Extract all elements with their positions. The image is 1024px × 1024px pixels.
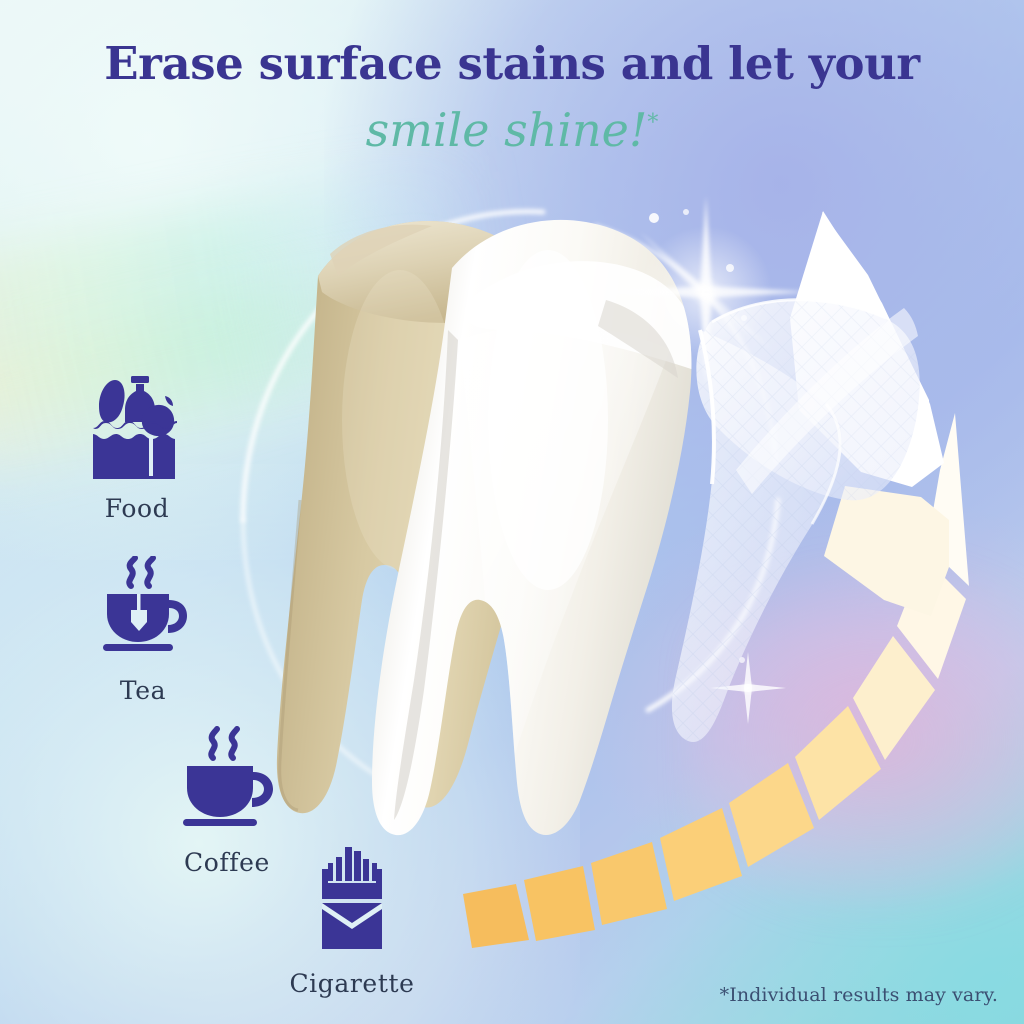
shade-tab-4 bbox=[660, 808, 742, 901]
headline-asterisk: * bbox=[647, 111, 658, 136]
tea-cup-icon bbox=[78, 556, 208, 669]
product-graphic-canvas: Erase surface stains and let your smile … bbox=[0, 0, 1024, 1024]
shade-tab-3 bbox=[591, 842, 667, 925]
disclaimer-text: *Individual results may vary. bbox=[720, 984, 998, 1006]
shade-tab-5 bbox=[729, 763, 814, 867]
coffee-cup-icon bbox=[152, 726, 302, 841]
stain-source-food: Food bbox=[62, 372, 212, 523]
cigarette-pack-icon bbox=[272, 845, 432, 962]
stain-source-label-food: Food bbox=[62, 494, 212, 523]
stain-source-label-tea: Tea bbox=[78, 676, 208, 705]
shade-tab-cream-wedge bbox=[824, 486, 949, 616]
shade-tab-2 bbox=[524, 866, 595, 941]
headline-line-2: smile shine!* bbox=[0, 105, 1024, 156]
stain-source-label-cigarette: Cigarette bbox=[272, 969, 432, 998]
stain-source-tea: Tea bbox=[78, 556, 208, 705]
headline-line-1: Erase surface stains and let your bbox=[0, 40, 1024, 87]
stain-source-cigarette: Cigarette bbox=[272, 845, 432, 998]
headline-line-2-text: smile shine! bbox=[366, 103, 648, 157]
grocery-bag-icon bbox=[62, 372, 212, 487]
shade-tab-1 bbox=[463, 884, 529, 948]
